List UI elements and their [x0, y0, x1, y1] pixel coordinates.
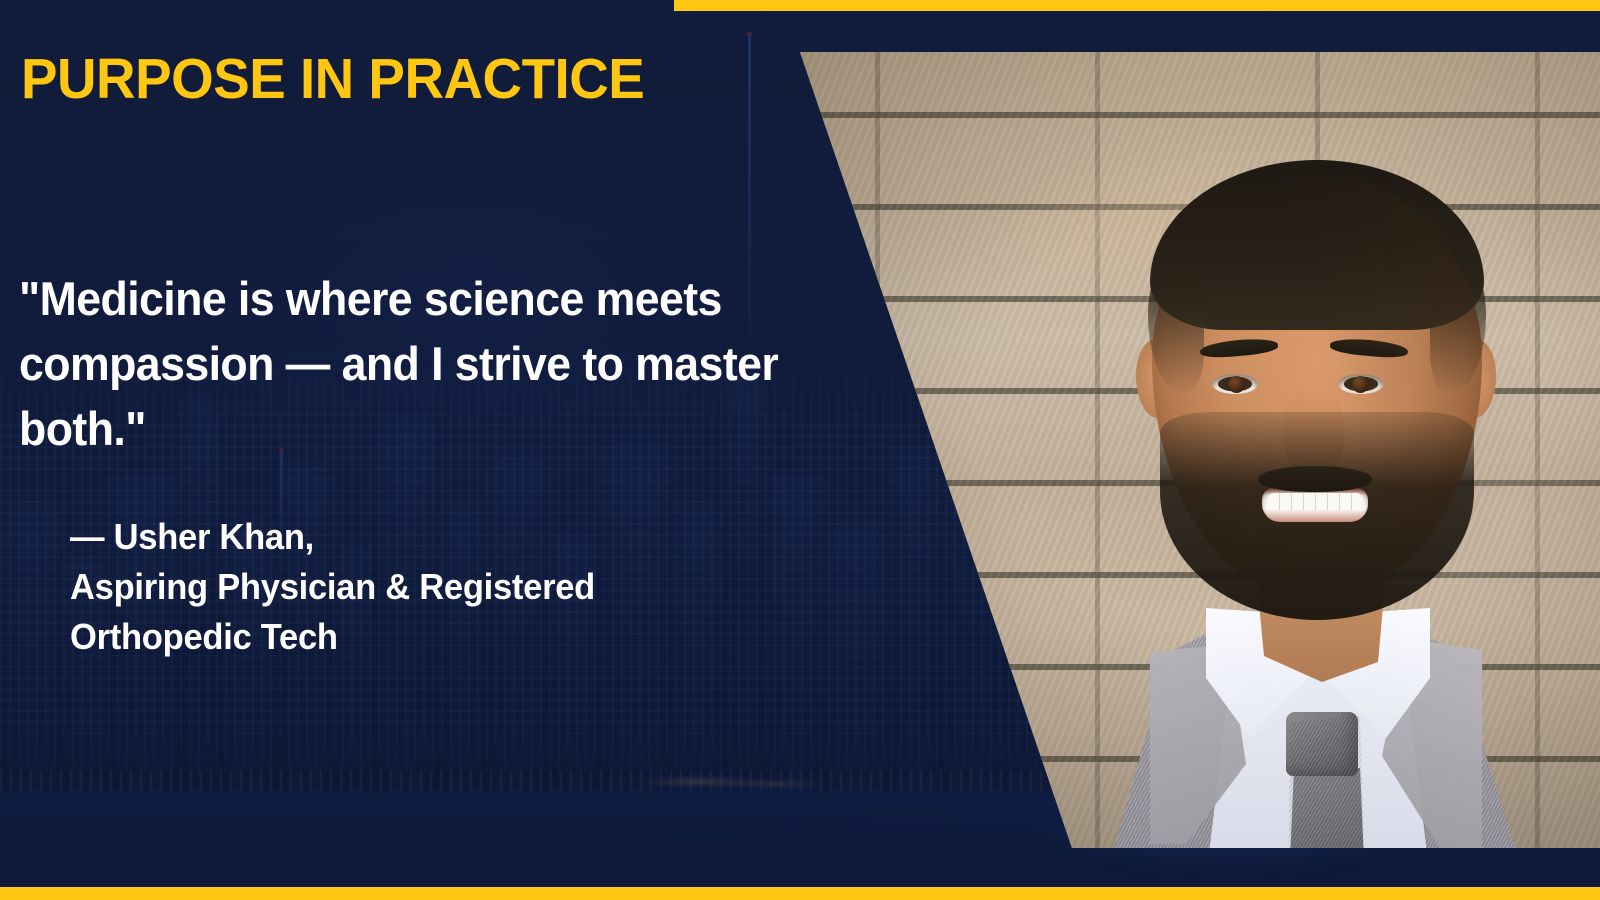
- face-shading: [1152, 174, 1482, 594]
- bottom-accent-bar: [0, 887, 1600, 900]
- quote-text: "Medicine is where science meets compass…: [19, 266, 855, 461]
- top-accent-bar: [674, 0, 1600, 11]
- page-title: PURPOSE IN PRACTICE: [21, 48, 644, 110]
- quote-slide: PURPOSE IN PRACTICE "Medicine is where s…: [0, 0, 1600, 900]
- attribution-block: — Usher Khan, Aspiring Physician & Regis…: [70, 512, 857, 662]
- attribution-name: — Usher Khan,: [70, 512, 857, 562]
- necktie-texture: [1286, 712, 1368, 848]
- attribution-role-line-2: Orthopedic Tech: [70, 612, 857, 662]
- attribution-role-line-1: Aspiring Physician & Registered: [70, 562, 857, 612]
